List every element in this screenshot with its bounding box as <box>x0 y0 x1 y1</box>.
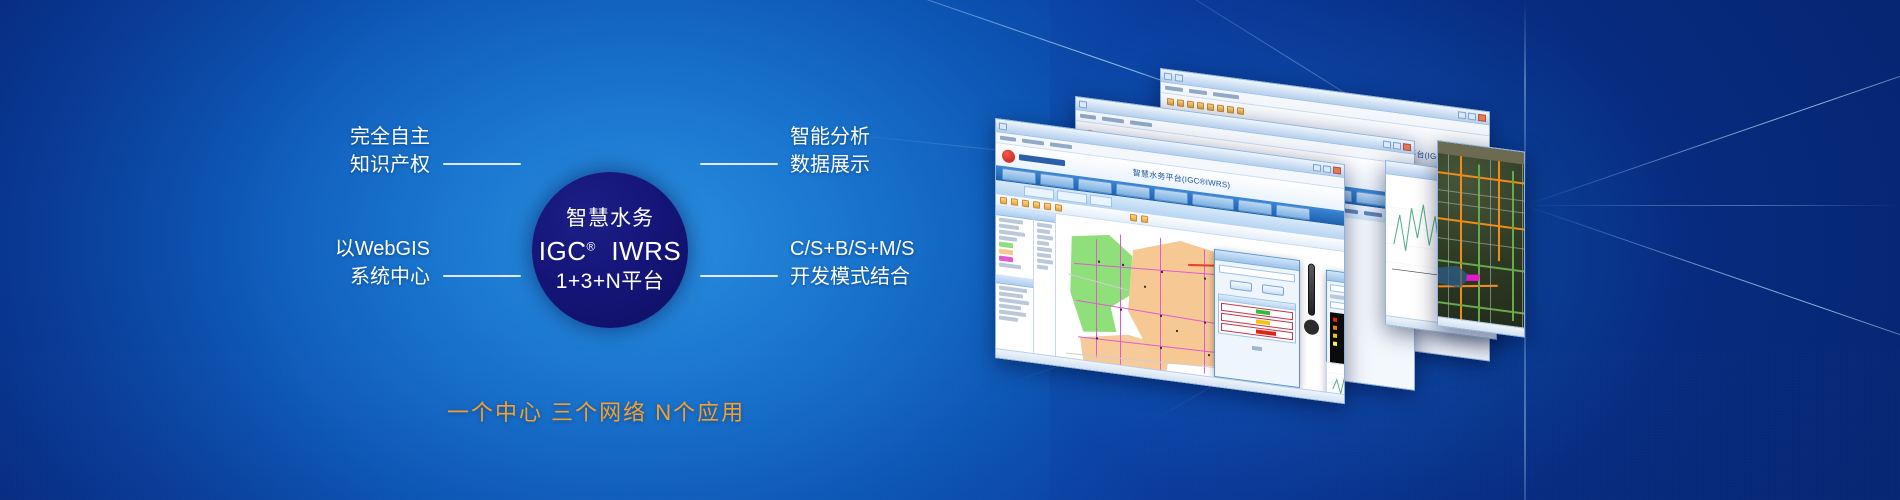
app-menu-icon[interactable] <box>1079 100 1087 108</box>
pipe-branch <box>1160 238 1161 376</box>
menu-item-help[interactable] <box>1050 142 1072 149</box>
hub-line-2: IGC® IWRS <box>539 238 681 264</box>
ribbon-tool-icon[interactable] <box>1187 101 1194 109</box>
menu-item-file[interactable] <box>1000 136 1016 142</box>
pillar-bottom-left-line2: 系统中心 <box>288 264 430 292</box>
subnav-button[interactable] <box>1090 195 1112 208</box>
map-node[interactable] <box>1120 308 1122 310</box>
pillar-top-right-line2: 数据展示 <box>790 152 990 180</box>
tagline: 一个中心 三个网络 N个应用 <box>447 395 745 427</box>
app-menu-icon[interactable] <box>1164 72 1172 80</box>
export-icon[interactable] <box>1141 215 1148 223</box>
legend-swatch-alarm-2 <box>1333 325 1337 330</box>
connector-top-left <box>443 163 521 165</box>
pipe-branch <box>1204 250 1205 374</box>
legend-swatch-alarm-4 <box>1333 341 1337 346</box>
hub-brand-iwrs: IWRS <box>611 236 681 266</box>
legend-swatch-alarm-3 <box>1333 333 1337 338</box>
ribbon-tool-icon[interactable] <box>1237 107 1244 115</box>
measure-tool-icon[interactable] <box>1044 202 1051 210</box>
pillar-top-left-line2: 知识产权 <box>300 152 430 180</box>
zoom-out-icon[interactable] <box>1022 200 1029 208</box>
toc-item[interactable] <box>1037 241 1049 247</box>
minimize-icon[interactable] <box>1313 163 1321 171</box>
map-node[interactable] <box>1098 261 1100 263</box>
close-icon[interactable] <box>1333 166 1341 174</box>
toc-item[interactable] <box>1037 235 1053 241</box>
menu-item-help[interactable] <box>1130 120 1152 127</box>
hub-line-1: 智慧水务 <box>566 208 654 229</box>
quick-link[interactable] <box>1364 211 1382 217</box>
ribbon-tool-icon[interactable] <box>1217 105 1224 113</box>
brand-name-front <box>1019 154 1065 166</box>
road-minor <box>1490 160 1491 324</box>
close-icon[interactable] <box>1403 143 1411 151</box>
toc-item[interactable] <box>1037 229 1050 235</box>
map-node[interactable] <box>1204 322 1206 324</box>
map-node[interactable] <box>1161 271 1163 273</box>
menu-item-edit[interactable] <box>1189 89 1207 95</box>
window-controls-back[interactable] <box>1458 111 1486 122</box>
menu-item-file[interactable] <box>1080 114 1096 120</box>
registered-trademark-icon: ® <box>587 239 596 253</box>
zoom-in-icon[interactable] <box>1011 198 1018 206</box>
legend-swatch-orange <box>999 249 1013 256</box>
pillar-bottom-right-line1: C/S+B/S+M/S <box>790 236 1020 264</box>
attribute-row <box>999 316 1018 323</box>
pillar-label-top-left: 完全自主 知识产权 <box>300 124 430 179</box>
window-controls-middle[interactable] <box>1383 140 1411 151</box>
menu-item-tools[interactable] <box>1022 139 1044 146</box>
pipe-branch <box>1096 239 1097 357</box>
pillar-label-bottom-right: C/S+B/S+M/S 开发模式结合 <box>790 236 1020 291</box>
pillar-bottom-left-line1: 以WebGIS <box>288 236 430 264</box>
burst-analysis-dialog[interactable] <box>1214 249 1300 388</box>
select-tool-icon[interactable] <box>1033 201 1040 209</box>
maximize-icon[interactable] <box>1468 112 1476 120</box>
pillar-bottom-right-line2: 开发模式结合 <box>790 264 1020 292</box>
layer-tree-item[interactable] <box>999 263 1021 270</box>
app-menu-icon[interactable] <box>999 122 1007 130</box>
save-icon[interactable] <box>1175 73 1183 81</box>
center-hub-circle: 智慧水务 IGC® IWRS 1+3+N平台 <box>532 172 688 328</box>
toc-item[interactable] <box>1037 265 1048 270</box>
hub-line-3: 1+3+N平台 <box>556 271 665 292</box>
identify-tool-icon[interactable] <box>1055 204 1062 212</box>
toc-item[interactable] <box>1037 223 1052 229</box>
maximize-icon[interactable] <box>1323 165 1331 173</box>
map-node[interactable] <box>1176 330 1178 332</box>
toc-item[interactable] <box>1037 253 1051 259</box>
legend-swatch-magenta <box>999 256 1013 263</box>
minimize-icon[interactable] <box>1383 140 1391 148</box>
water-drop-logo-icon <box>1002 148 1015 163</box>
menu-item-tools[interactable] <box>1102 117 1124 124</box>
close-icon[interactable] <box>1478 113 1486 121</box>
dialog-ok-button[interactable] <box>1252 346 1262 351</box>
window-controls-front[interactable] <box>1313 163 1341 174</box>
map-node[interactable] <box>1122 264 1124 266</box>
ribbon-tool-icon[interactable] <box>1197 102 1204 110</box>
print-icon[interactable] <box>1130 214 1137 222</box>
toc-item[interactable] <box>1037 247 1052 253</box>
menu-item-file[interactable] <box>1165 86 1183 92</box>
connector-bottom-left <box>443 275 521 277</box>
menu-item-view[interactable] <box>1213 92 1239 99</box>
hero-banner: 完全自主 知识产权 以WebGIS 系统中心 智慧水务 IGC® IWRS 1+… <box>0 0 1900 500</box>
app-window-front[interactable]: 智慧水务平台(IGC®IWRS) <box>995 118 1345 404</box>
map-zone-green <box>1066 229 1138 338</box>
maximize-icon[interactable] <box>1393 141 1401 149</box>
minimize-icon[interactable] <box>1458 111 1466 119</box>
table-of-contents-panel[interactable] <box>1034 211 1056 366</box>
ribbon-tool-icon[interactable] <box>1207 103 1214 111</box>
pillar-label-bottom-left: 以WebGIS 系统中心 <box>288 236 430 291</box>
road-arterial <box>1460 156 1462 320</box>
pillar-label-top-right: 智能分析 数据展示 <box>790 124 990 179</box>
road-minor <box>1448 154 1449 318</box>
ribbon-tool-icon[interactable] <box>1167 98 1174 106</box>
legend-swatch-green <box>999 242 1013 249</box>
map-node[interactable] <box>1160 347 1162 349</box>
map-node[interactable] <box>1096 337 1098 339</box>
map-node[interactable] <box>1204 278 1206 280</box>
pipe-branch <box>1120 234 1121 366</box>
connector-top-right <box>700 163 778 165</box>
hub-brand-igc: IGC <box>539 236 587 266</box>
legend-swatch-alarm-1 <box>1333 317 1337 322</box>
pillar-top-right-line1: 智能分析 <box>790 124 990 152</box>
pan-tool-icon[interactable] <box>1000 197 1007 205</box>
toc-item[interactable] <box>1037 259 1053 265</box>
map-node[interactable] <box>1160 315 1162 317</box>
road-minor <box>1522 164 1523 328</box>
ribbon-tool-icon[interactable] <box>1177 99 1184 107</box>
zoom-slider-icon[interactable] <box>1308 263 1315 316</box>
satellite-map-canvas[interactable] <box>1438 141 1524 328</box>
dialog-clear-button[interactable] <box>1262 284 1284 296</box>
layer-list-panel[interactable] <box>996 206 1034 363</box>
pillar-top-left-line1: 完全自主 <box>300 124 430 152</box>
app-window-satellite[interactable] <box>1437 140 1525 338</box>
map-node[interactable] <box>1208 354 1210 356</box>
map-node[interactable] <box>1144 286 1146 288</box>
connector-bottom-right <box>700 275 778 277</box>
toc-header <box>1034 211 1055 223</box>
dialog-query-button[interactable] <box>1230 280 1252 292</box>
ribbon-tool-icon[interactable] <box>1227 106 1234 114</box>
